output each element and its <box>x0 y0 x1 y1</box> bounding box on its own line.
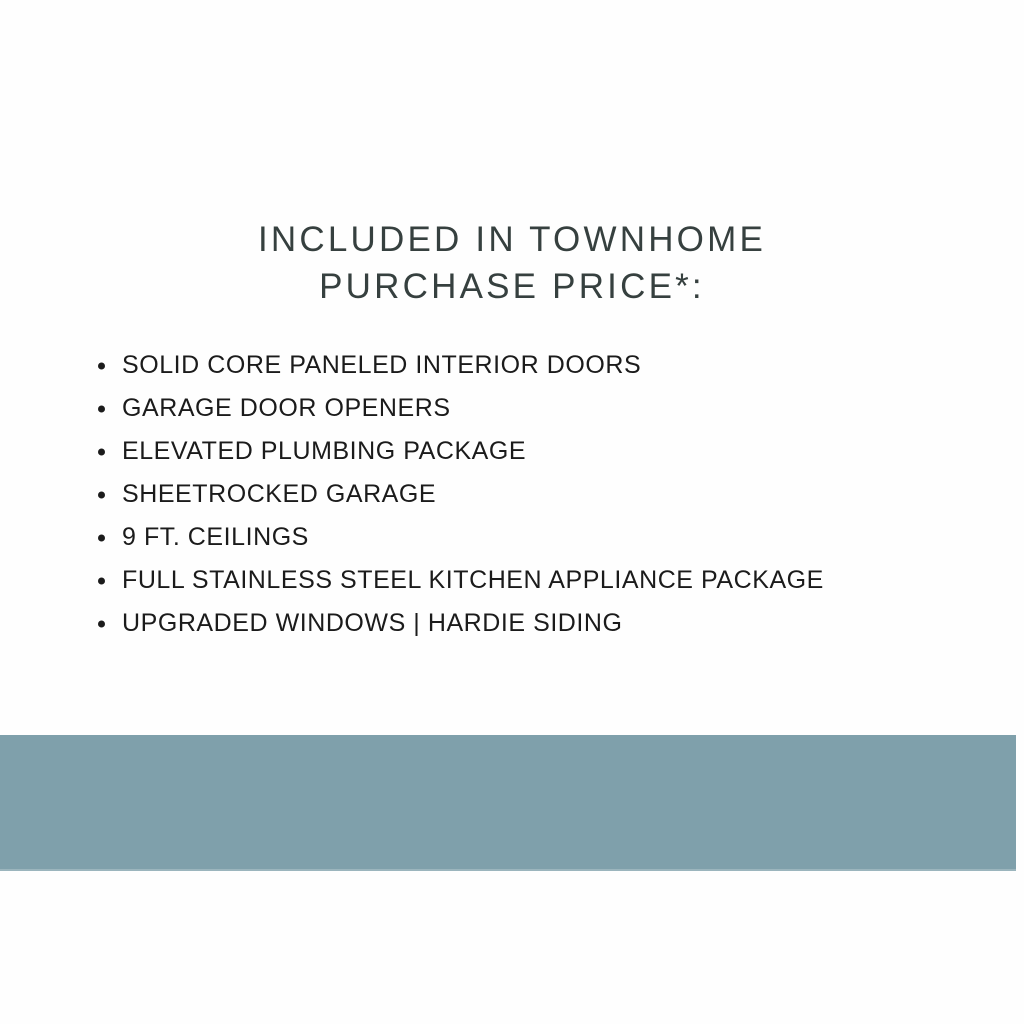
accent-color-band <box>0 735 1016 871</box>
list-item-label: SHEETROCKED GARAGE <box>122 473 436 516</box>
list-item: SOLID CORE PANELED INTERIOR DOORS <box>96 344 996 387</box>
bullet-dot-icon <box>98 577 105 584</box>
list-item-label: 9 FT. CEILINGS <box>122 516 309 559</box>
bullet-dot-icon <box>98 405 105 412</box>
list-item: SHEETROCKED GARAGE <box>96 473 996 516</box>
list-item: UPGRADED WINDOWS | HARDIE SIDING <box>96 602 996 645</box>
page-title-line-2: PURCHASE PRICE*: <box>0 263 1024 310</box>
list-item: FULL STAINLESS STEEL KITCHEN APPLIANCE P… <box>96 559 996 602</box>
bullet-dot-icon <box>98 491 105 498</box>
slide-canvas: INCLUDED IN TOWNHOME PURCHASE PRICE*: SO… <box>0 0 1024 1024</box>
page-title-line-1: INCLUDED IN TOWNHOME <box>0 216 1024 263</box>
list-item: GARAGE DOOR OPENERS <box>96 387 996 430</box>
list-item-label: FULL STAINLESS STEEL KITCHEN APPLIANCE P… <box>122 559 824 602</box>
bullet-dot-icon <box>98 448 105 455</box>
bullet-dot-icon <box>98 534 105 541</box>
list-item-label: SOLID CORE PANELED INTERIOR DOORS <box>122 344 641 387</box>
band-edge-highlight <box>0 869 1016 871</box>
list-item-label: UPGRADED WINDOWS | HARDIE SIDING <box>122 602 623 645</box>
list-item: ELEVATED PLUMBING PACKAGE <box>96 430 996 473</box>
list-item-label: ELEVATED PLUMBING PACKAGE <box>122 430 526 473</box>
list-item: 9 FT. CEILINGS <box>96 516 996 559</box>
page-title: INCLUDED IN TOWNHOME PURCHASE PRICE*: <box>0 216 1024 310</box>
bullet-dot-icon <box>98 362 105 369</box>
included-features-list: SOLID CORE PANELED INTERIOR DOORS GARAGE… <box>96 344 996 645</box>
bullet-dot-icon <box>98 620 105 627</box>
list-item-label: GARAGE DOOR OPENERS <box>122 387 451 430</box>
